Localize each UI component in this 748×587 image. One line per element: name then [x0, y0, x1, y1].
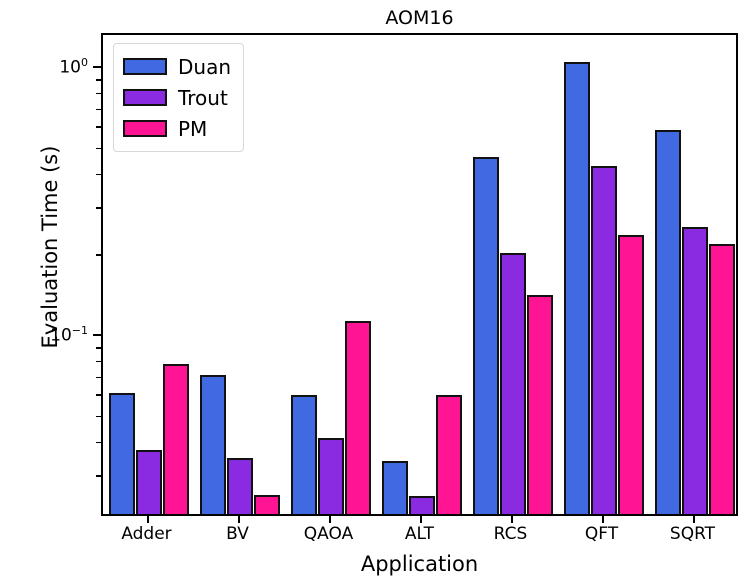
x-tick-mark — [511, 516, 513, 523]
bar-adder-trout — [136, 450, 162, 516]
bar-rcs-pm — [527, 295, 553, 516]
legend: Duan Trout PM — [113, 43, 244, 152]
x-tick-label-qaoa: QAOA — [304, 524, 353, 544]
x-tick-mark — [147, 516, 149, 523]
x-tick-label-qft: QFT — [585, 524, 618, 544]
x-tick-label-alt: ALT — [405, 524, 434, 544]
x-tick-mark — [238, 516, 240, 523]
bar-bv-pm — [254, 495, 280, 516]
x-tick-mark — [420, 516, 422, 523]
bar-qaoa-trout — [318, 438, 344, 516]
bar-qaoa-duan — [291, 395, 317, 516]
bar-alt-pm — [436, 395, 462, 516]
plot-area: Duan Trout PM — [101, 33, 738, 516]
bar-sqrt-pm — [709, 244, 735, 516]
bar-adder-pm — [163, 364, 189, 516]
y-axis-label: Evaluation Time (s) — [38, 47, 62, 447]
x-tick-mark — [329, 516, 331, 523]
x-axis-label: Application — [101, 552, 738, 576]
bar-alt-trout — [409, 496, 435, 516]
bar-bv-trout — [227, 458, 253, 516]
x-tick-mark — [602, 516, 604, 523]
bar-rcs-trout — [500, 253, 526, 516]
y-tick-mark-major — [93, 66, 101, 68]
bar-sqrt-trout — [682, 227, 708, 516]
bar-sqrt-duan — [655, 130, 681, 516]
legend-swatch-duan — [123, 58, 167, 75]
x-tick-label-rcs: RCS — [494, 524, 528, 544]
legend-label-duan: Duan — [178, 57, 231, 77]
x-tick-label-adder: Adder — [121, 524, 171, 544]
legend-item[interactable]: PM — [123, 113, 231, 144]
x-tick-mark — [693, 516, 695, 523]
y-tick-mark-major — [93, 334, 101, 336]
y-tick-label: 100 — [18, 56, 88, 78]
bar-qft-trout — [591, 166, 617, 516]
x-tick-label-sqrt: SQRT — [670, 524, 715, 544]
bar-qft-pm — [618, 235, 644, 516]
legend-item[interactable]: Duan — [123, 51, 231, 82]
legend-label-pm: PM — [178, 119, 207, 139]
chart-title: AOM16 — [101, 6, 738, 30]
legend-item[interactable]: Trout — [123, 82, 231, 113]
bar-qaoa-pm — [345, 321, 371, 516]
bar-bv-duan — [200, 375, 226, 516]
bar-alt-duan — [382, 461, 408, 516]
figure-canvas: AOM16 Evaluation Time (s) 10010−1 AdderB… — [0, 0, 748, 587]
bar-rcs-duan — [473, 157, 499, 516]
y-tick-label: 10−1 — [18, 324, 88, 346]
x-tick-label-bv: BV — [226, 524, 249, 544]
bar-qft-duan — [564, 62, 590, 516]
legend-swatch-pm — [123, 120, 167, 137]
bar-adder-duan — [109, 393, 135, 516]
legend-label-trout: Trout — [178, 88, 228, 108]
legend-swatch-trout — [123, 89, 167, 106]
